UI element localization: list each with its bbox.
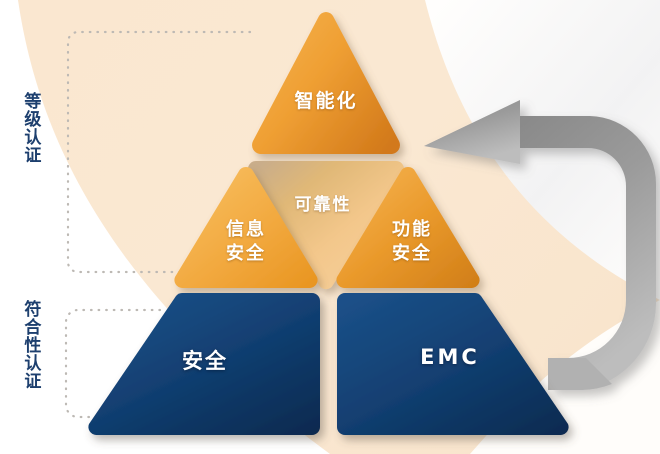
diagram-canvas: 等级认证 符合性认证 智能化 可靠性 信息 安全 功能 安全 安全 EMC — [0, 0, 660, 454]
tier-bottom-safety-shape[interactable] — [88, 293, 320, 435]
feedback-arrow-body — [520, 116, 656, 390]
tier-top-smart-shape[interactable] — [252, 12, 400, 154]
tier-bottom-emc-shape[interactable] — [337, 293, 569, 435]
side-label-compliance: 符合性认证 — [22, 300, 39, 390]
shapes-layer — [0, 0, 660, 454]
feedback-arrow-head — [424, 100, 520, 164]
side-label-level: 等级认证 — [22, 92, 39, 164]
